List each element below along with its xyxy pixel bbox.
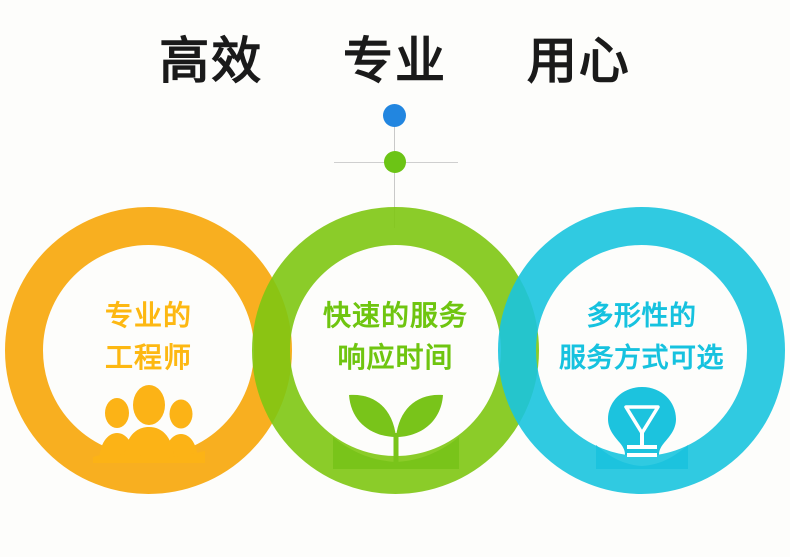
circle-text-service-modes: 多形性的 服务方式可选 (498, 295, 785, 379)
circle-text-response-time: 快速的服务 响应时间 (252, 295, 539, 379)
circle-text-line2: 响应时间 (252, 337, 539, 379)
circle-text-line2: 服务方式可选 (498, 337, 785, 379)
circle-icon-slot (5, 385, 292, 475)
sprout-icon (333, 385, 459, 469)
people-icon (93, 385, 205, 463)
circle-text-line1: 快速的服务 (252, 295, 539, 337)
circle-icon-slot (252, 385, 539, 475)
circle-text-engineers: 专业的 工程师 (5, 295, 292, 379)
circle-text-line1: 专业的 (5, 295, 292, 337)
circle-text-line1: 多形性的 (498, 295, 785, 337)
poster-canvas: 高效 专业 用心 专业的 工程师 (0, 0, 790, 557)
circle-text-line2: 工程师 (5, 337, 292, 379)
circle-icon-slot (498, 385, 785, 475)
circle-card-service-modes: 多形性的 服务方式可选 (498, 207, 785, 494)
lightbulb-icon (596, 385, 688, 469)
circle-card-response-time: 快速的服务 响应时间 (252, 207, 539, 494)
circle-card-engineers: 专业的 工程师 (5, 207, 292, 494)
